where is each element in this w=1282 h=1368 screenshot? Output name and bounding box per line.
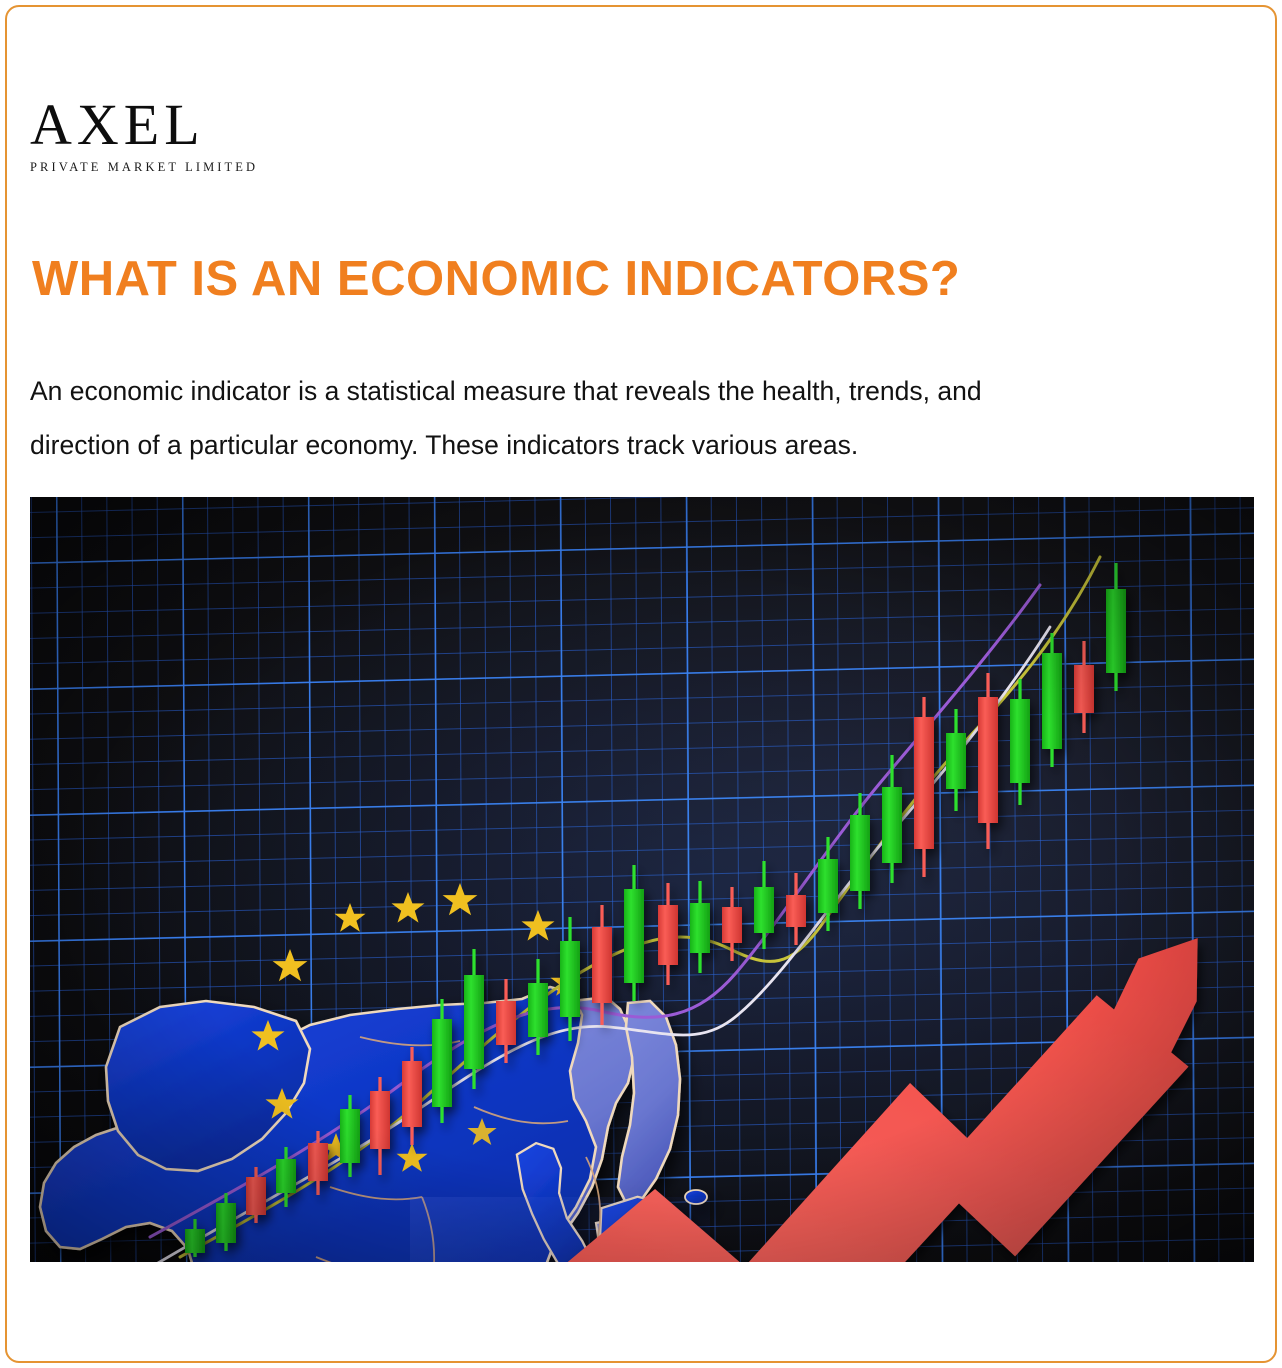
growth-arrow: [180, 938, 1198, 1262]
body-paragraph: An economic indicator is a statistical m…: [30, 364, 1254, 472]
candlestick-chart: [30, 497, 1254, 1262]
candle: [370, 1077, 390, 1175]
candle: [658, 883, 678, 985]
candle: [624, 865, 644, 1001]
candle: [690, 881, 710, 973]
candle: [818, 837, 838, 931]
candle: [882, 755, 902, 883]
slide-page: AXEL PRIVATE MARKET LIMITED WHAT IS AN E…: [0, 0, 1282, 1368]
candle: [592, 905, 612, 1025]
body-line-2: direction of a particular economy. These…: [30, 418, 1254, 472]
candle: [216, 1193, 236, 1251]
brand-tagline: PRIVATE MARKET LIMITED: [30, 160, 330, 174]
hero-image: [30, 497, 1254, 1262]
candle: [464, 949, 484, 1089]
candle: [560, 917, 580, 1041]
brand-logo: AXEL PRIVATE MARKET LIMITED: [30, 96, 330, 174]
candle: [1042, 633, 1062, 767]
candle: [185, 1219, 205, 1257]
brand-name: AXEL: [30, 96, 330, 154]
candle: [722, 887, 742, 961]
candle: [946, 709, 966, 811]
page-title: WHAT IS AN ECONOMIC INDICATORS?: [32, 249, 1242, 309]
candle: [340, 1095, 360, 1177]
candle: [850, 793, 870, 909]
candle: [432, 999, 452, 1123]
candle: [1106, 563, 1126, 691]
body-line-1: An economic indicator is a statistical m…: [30, 364, 1254, 418]
candle: [754, 861, 774, 949]
candle: [402, 1047, 422, 1145]
candle: [308, 1131, 328, 1195]
candle: [1074, 641, 1094, 733]
candle: [978, 673, 998, 849]
candle: [1010, 679, 1030, 805]
candle: [914, 697, 934, 877]
